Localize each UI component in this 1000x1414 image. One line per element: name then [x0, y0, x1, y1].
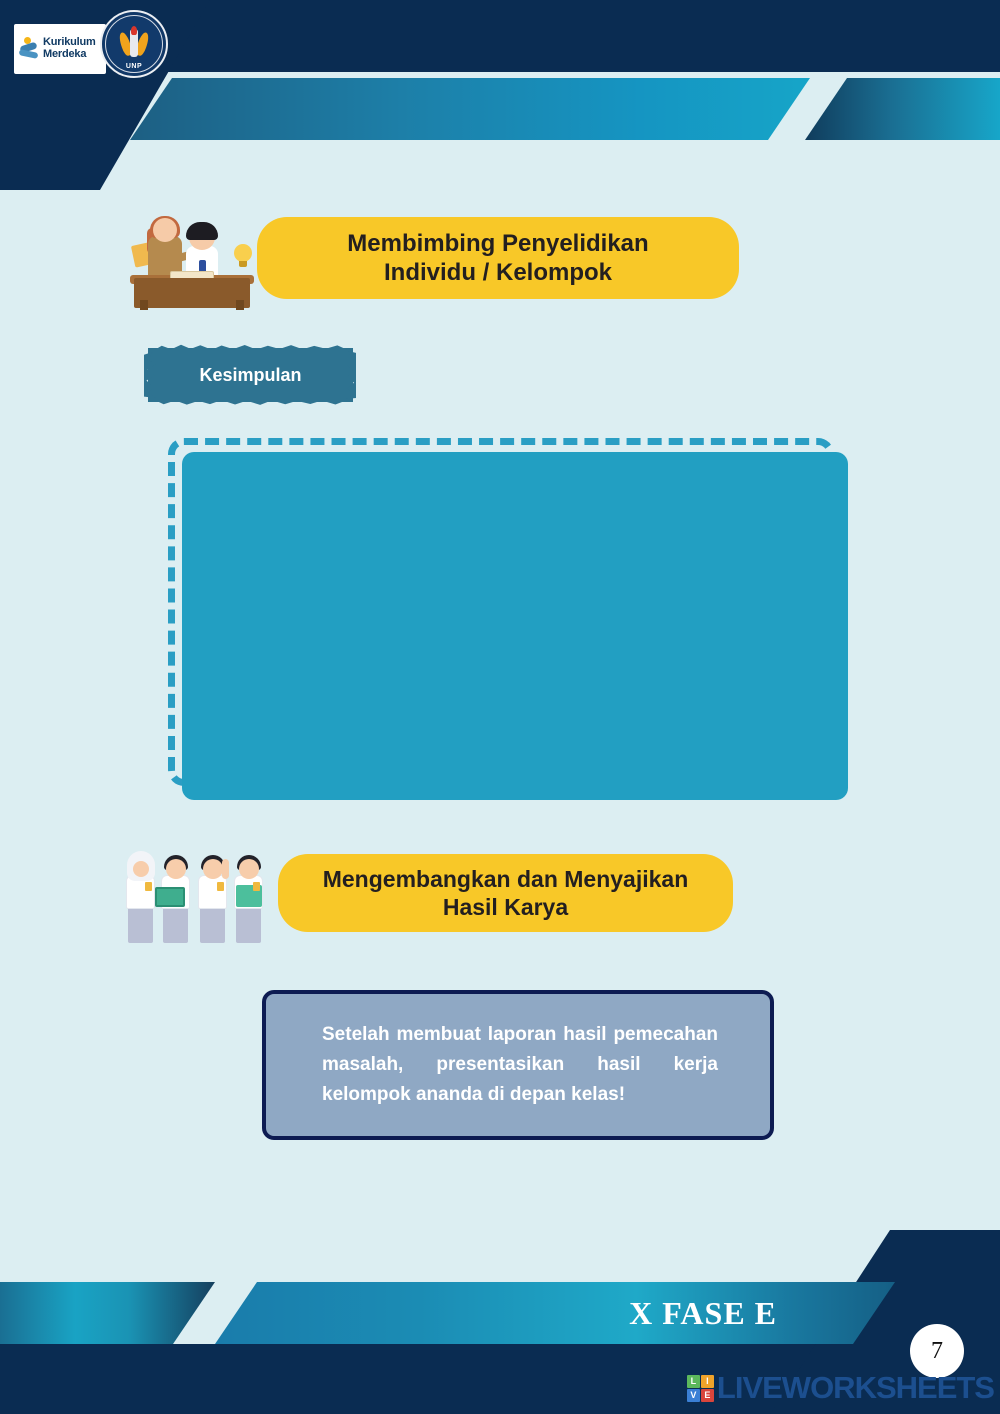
unp-flame-icon: [121, 29, 147, 59]
section-title-line1: Mengembangkan dan Menyajikan: [323, 866, 689, 892]
worksheet-page: Kurikulum Merdeka UNP: [0, 0, 1000, 1414]
kurikulum-merdeka-mark-icon: [19, 36, 39, 62]
header-accent-band-left: [130, 78, 810, 140]
section-title-line2: Individu / Kelompok: [384, 259, 612, 286]
live-tile-v: V: [687, 1389, 700, 1402]
section-title-line2: Hasil Karya: [443, 894, 568, 920]
live-tile-i: I: [701, 1375, 714, 1388]
live-tiles-icon: L I V E: [687, 1375, 714, 1402]
section-mengembangkan-menyajikan: Mengembangkan dan Menyajikan Hasil Karya: [124, 843, 774, 943]
page-footer: X FASE E 7 L I V E LIVEWORKSHEETS: [0, 1230, 1000, 1414]
kesimpulan-answer-area[interactable]: [168, 438, 834, 786]
instruction-box: Setelah membuat laporan hasil pemecahan …: [262, 990, 774, 1140]
live-tile-e: E: [701, 1389, 714, 1402]
unp-logo-label: UNP: [106, 63, 162, 70]
kurikulum-merdeka-logo: Kurikulum Merdeka: [14, 24, 106, 74]
unp-logo-ring-icon: UNP: [105, 15, 163, 73]
four-students-with-books-icon: [124, 843, 272, 943]
kesimpulan-label-text: Kesimpulan: [199, 365, 301, 386]
page-header: Kurikulum Merdeka UNP: [0, 0, 1000, 190]
unp-logo: UNP: [100, 10, 168, 78]
footer-title: X FASE E: [629, 1295, 777, 1332]
live-tile-l: L: [687, 1375, 700, 1388]
teacher-guiding-student-icon: [130, 206, 254, 310]
kesimpulan-label: Kesimpulan: [148, 348, 353, 402]
section-title-mengembangkan: Mengembangkan dan Menyajikan Hasil Karya: [278, 854, 733, 932]
section-title-membimbing: Membimbing Penyelidikan Individu / Kelom…: [257, 217, 739, 299]
header-accent-band-right: [805, 78, 1000, 140]
section-title-line1: Membimbing Penyelidikan: [347, 230, 648, 257]
footer-accent-band-left: [0, 1282, 215, 1344]
section-membimbing-penyelidikan: Membimbing Penyelidikan Individu / Kelom…: [130, 208, 750, 308]
answer-box-input[interactable]: [182, 452, 848, 800]
liveworksheets-wordmark: LIVEWORKSHEETS: [717, 1370, 994, 1406]
liveworksheets-watermark: L I V E LIVEWORKSHEETS: [687, 1370, 994, 1406]
kurikulum-merdeka-label: Kurikulum Merdeka: [43, 37, 96, 60]
footer-accent-band-main: X FASE E: [215, 1282, 895, 1344]
